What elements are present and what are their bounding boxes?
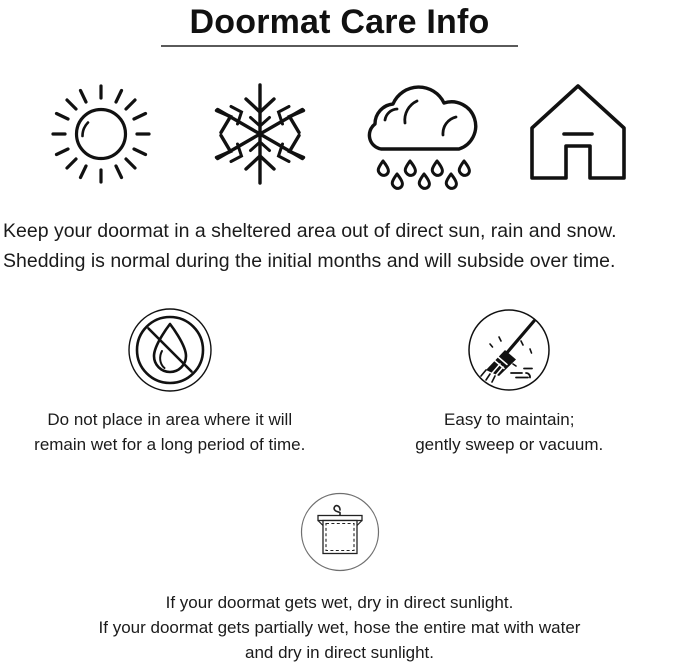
- weather-icon-row: [0, 72, 679, 200]
- broom-badge: [465, 308, 553, 396]
- care-item-no-water: Do not place in area where it will remai…: [0, 308, 340, 457]
- intro-line-1: Keep your doormat in a sheltered area ou…: [3, 216, 679, 246]
- caption-line-2: remain wet for a long period of time.: [34, 432, 305, 457]
- caption-line-3: and dry in direct sunlight.: [99, 640, 581, 665]
- broom-icon: [466, 307, 552, 398]
- intro-line-2: Shedding is normal during the initial mo…: [3, 246, 679, 276]
- rain-cloud-icon: [355, 76, 483, 197]
- drying-instruction-block: If your doormat gets wet, dry in direct …: [0, 490, 679, 665]
- weather-cell-house: [503, 72, 653, 200]
- page-title: Doormat Care Info: [0, 0, 679, 42]
- weather-cell-snow: [185, 72, 335, 200]
- house-icon: [518, 78, 638, 195]
- care-item-sweep-caption: Easy to maintain; gently sweep or vacuum…: [415, 407, 603, 457]
- caption-line-1: Do not place in area where it will: [34, 407, 305, 432]
- caption-line-2: If your doormat gets partially wet, hose…: [99, 615, 581, 640]
- intro-paragraph: Keep your doormat in a sheltered area ou…: [0, 216, 679, 276]
- care-item-no-water-caption: Do not place in area where it will remai…: [34, 407, 305, 457]
- snowflake-icon: [208, 79, 312, 194]
- title-underline-rule: [161, 45, 518, 47]
- hang-dry-badge: [296, 490, 384, 578]
- drying-instruction-caption: If your doormat gets wet, dry in direct …: [99, 590, 581, 665]
- care-item-sweep: Easy to maintain; gently sweep or vacuum…: [340, 308, 679, 457]
- weather-cell-rain: [344, 72, 494, 200]
- caption-line-1: If your doormat gets wet, dry in direct …: [99, 590, 581, 615]
- no-water-badge: [126, 308, 214, 396]
- caption-line-1: Easy to maintain;: [415, 407, 603, 432]
- no-water-icon: [127, 307, 213, 398]
- page-header: Doormat Care Info: [0, 0, 679, 47]
- hang-dry-icon: [299, 491, 381, 578]
- care-items-row: Do not place in area where it will remai…: [0, 308, 679, 457]
- sun-icon: [47, 78, 155, 195]
- weather-cell-sun: [26, 72, 176, 200]
- caption-line-2: gently sweep or vacuum.: [415, 432, 603, 457]
